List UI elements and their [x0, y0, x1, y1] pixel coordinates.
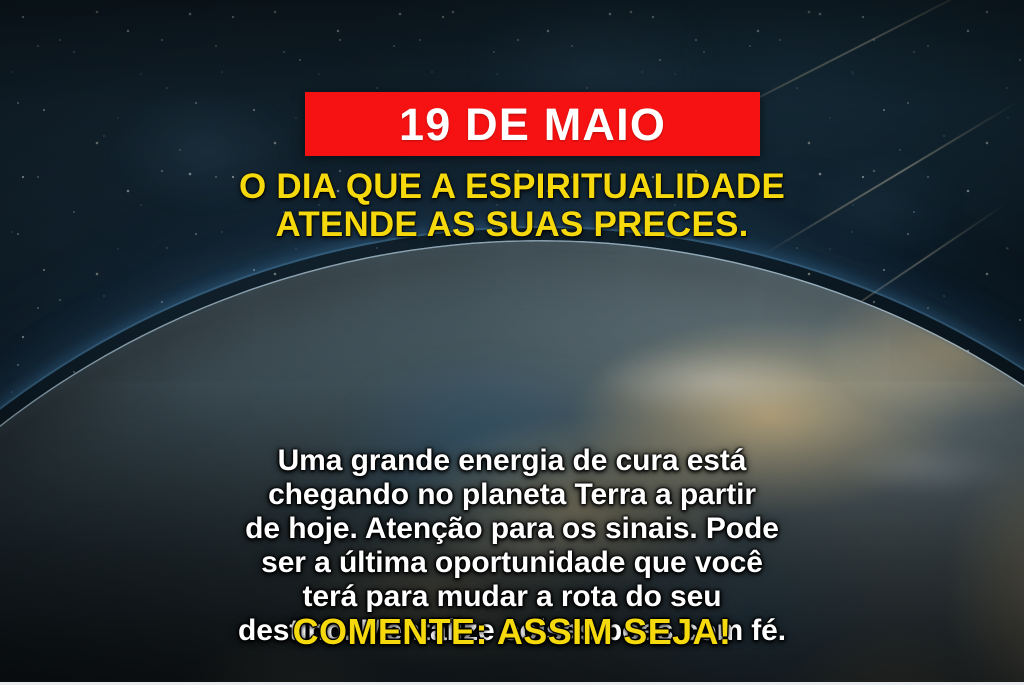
poster-canvas: 19 DE MAIO O DIA QUE A ESPIRITUALIDADE A…: [0, 0, 1024, 685]
body-line-2: chegando no planeta Terra a partir: [52, 478, 972, 512]
poster-content: 19 DE MAIO O DIA QUE A ESPIRITUALIDADE A…: [0, 0, 1024, 685]
date-banner-label: 19 DE MAIO: [399, 102, 666, 147]
headline-line-1: O DIA QUE A ESPIRITUALIDADE: [0, 168, 1024, 206]
body-line-1: Uma grande energia de cura está: [52, 444, 972, 478]
body-line-5: terá para mudar a rota do seu: [52, 580, 972, 614]
body-line-4: ser a última oportunidade que você: [52, 546, 972, 580]
body-line-3: de hoje. Atenção para os sinais. Pode: [52, 512, 972, 546]
headline-line-2: ATENDE AS SUAS PRECES.: [0, 206, 1024, 244]
headline: O DIA QUE A ESPIRITUALIDADE ATENDE AS SU…: [0, 168, 1024, 244]
date-banner: 19 DE MAIO: [305, 92, 760, 156]
call-to-action-text: COMENTE: ASSIM SEJA!: [0, 612, 1024, 652]
